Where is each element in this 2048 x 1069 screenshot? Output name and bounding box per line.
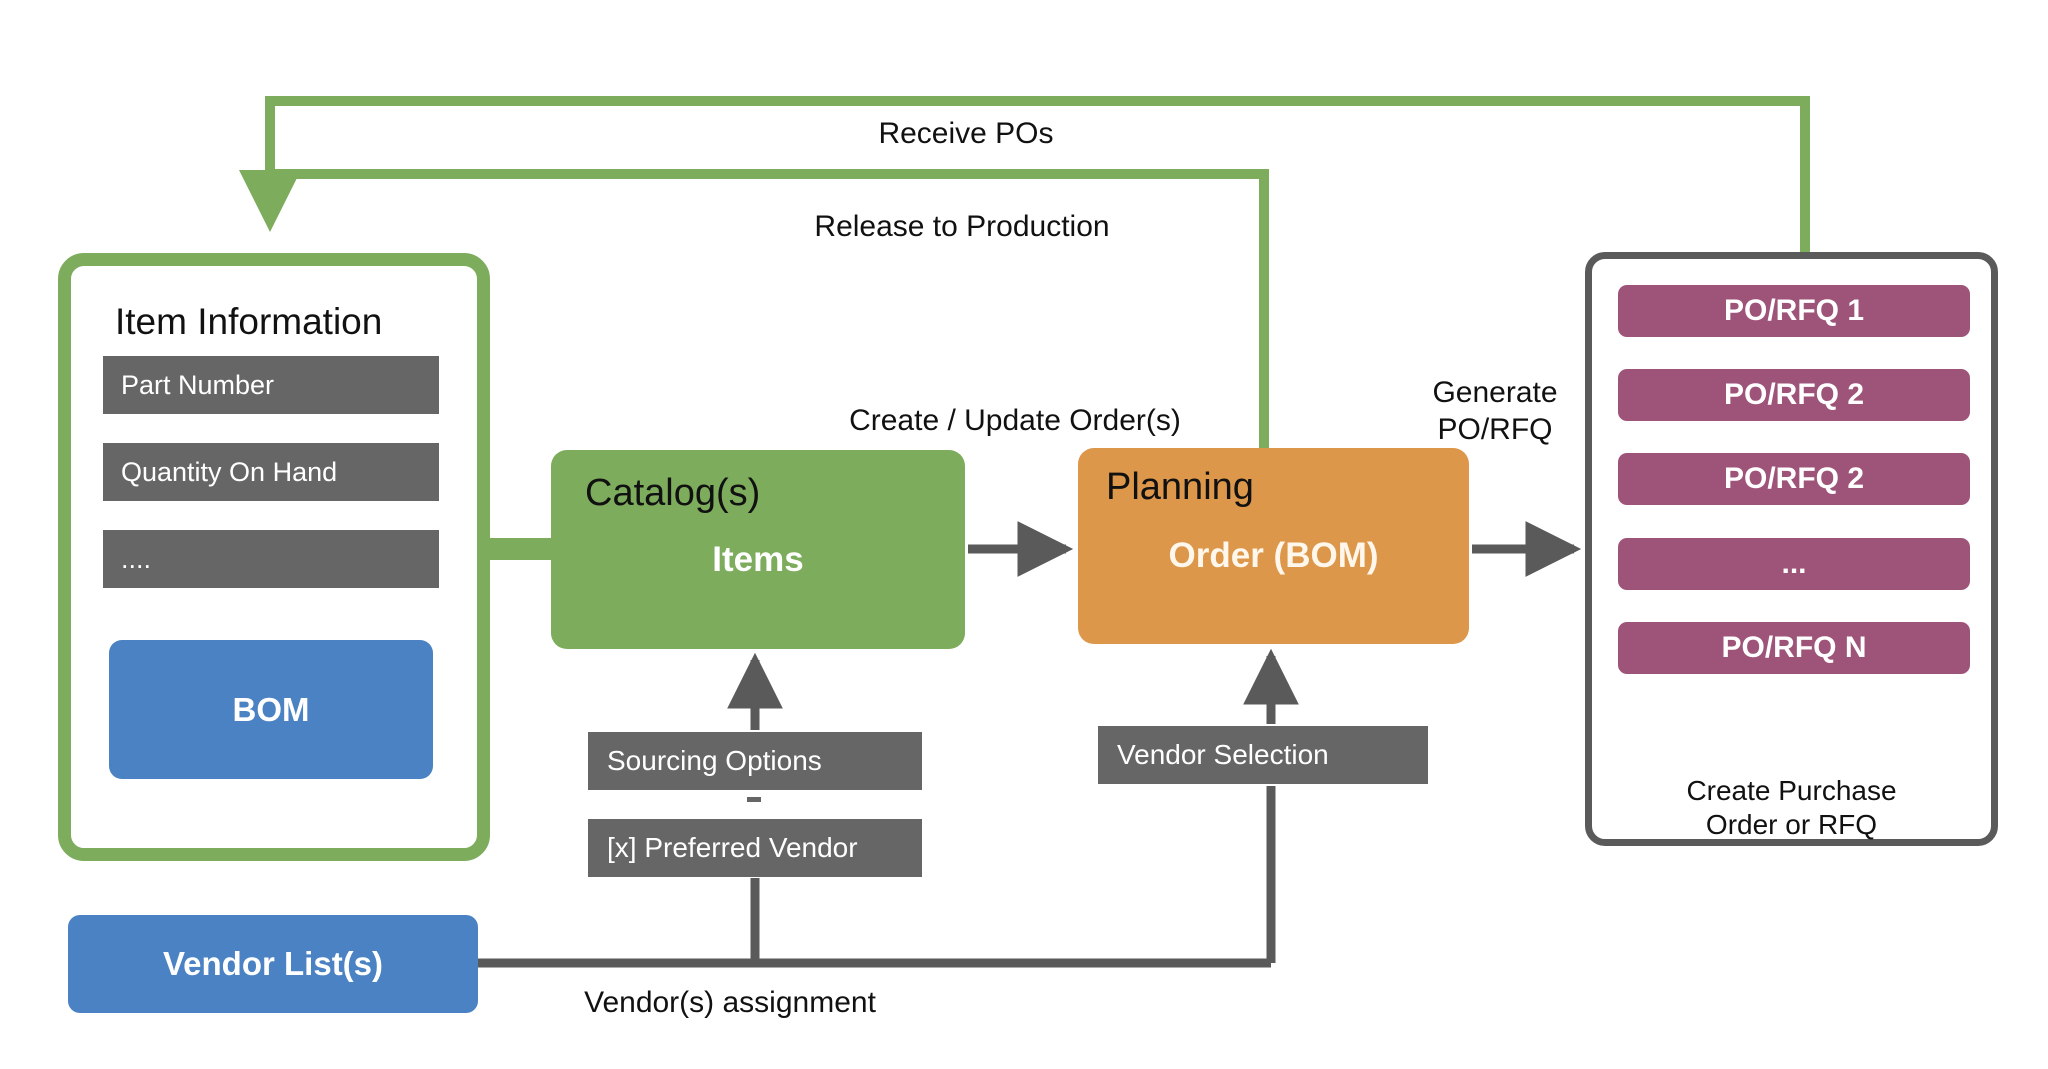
diagram-canvas: Item Information Part Number Quantity On… — [0, 0, 2048, 1069]
edge-label-generate-po-rfq: Generate PO/RFQ — [1395, 375, 1595, 448]
planning-node[interactable]: Planning Order (BOM) — [1078, 448, 1469, 644]
po-rfq-panel: PO/RFQ 1 PO/RFQ 2 PO/RFQ 2 ... PO/RFQ N … — [1585, 252, 1998, 846]
preferred-vendor-chip[interactable]: [x] Preferred Vendor — [588, 819, 922, 877]
po-rfq-item-2[interactable]: PO/RFQ 2 — [1618, 369, 1970, 421]
po-rfq-item-3[interactable]: PO/RFQ 2 — [1618, 453, 1970, 505]
catalogs-subtitle: Items — [551, 540, 965, 580]
edge-label-receive-pos: Receive POs — [806, 116, 1126, 153]
catalogs-title: Catalog(s) — [585, 472, 760, 515]
sourcing-options-chip[interactable]: Sourcing Options — [588, 732, 922, 790]
catalogs-node[interactable]: Catalog(s) Items — [551, 450, 965, 649]
vendor-selection-chip[interactable]: Vendor Selection — [1098, 726, 1428, 784]
planning-title: Planning — [1106, 466, 1254, 509]
edge-label-vendor-assignment: Vendor(s) assignment — [540, 985, 920, 1022]
edge-label-create-update-orders: Create / Update Order(s) — [800, 403, 1230, 440]
po-rfq-item-n[interactable]: PO/RFQ N — [1618, 622, 1970, 674]
sourcing-separator-dash — [747, 797, 761, 802]
item-information-card: Item Information Part Number Quantity On… — [58, 253, 490, 861]
vendor-lists-node[interactable]: Vendor List(s) — [68, 915, 478, 1013]
bom-chip[interactable]: BOM — [109, 640, 433, 779]
planning-subtitle: Order (BOM) — [1078, 536, 1469, 576]
item-field-quantity-on-hand: Quantity On Hand — [103, 443, 439, 501]
po-rfq-item-ellipsis[interactable]: ... — [1618, 538, 1970, 590]
po-rfq-item-1[interactable]: PO/RFQ 1 — [1618, 285, 1970, 337]
item-field-more: .... — [103, 530, 439, 588]
po-rfq-panel-caption: Create Purchase Order or RFQ — [1592, 774, 1991, 842]
edge-label-release-to-production: Release to Production — [762, 209, 1162, 246]
item-information-title: Item Information — [115, 301, 382, 343]
item-field-part-number: Part Number — [103, 356, 439, 414]
